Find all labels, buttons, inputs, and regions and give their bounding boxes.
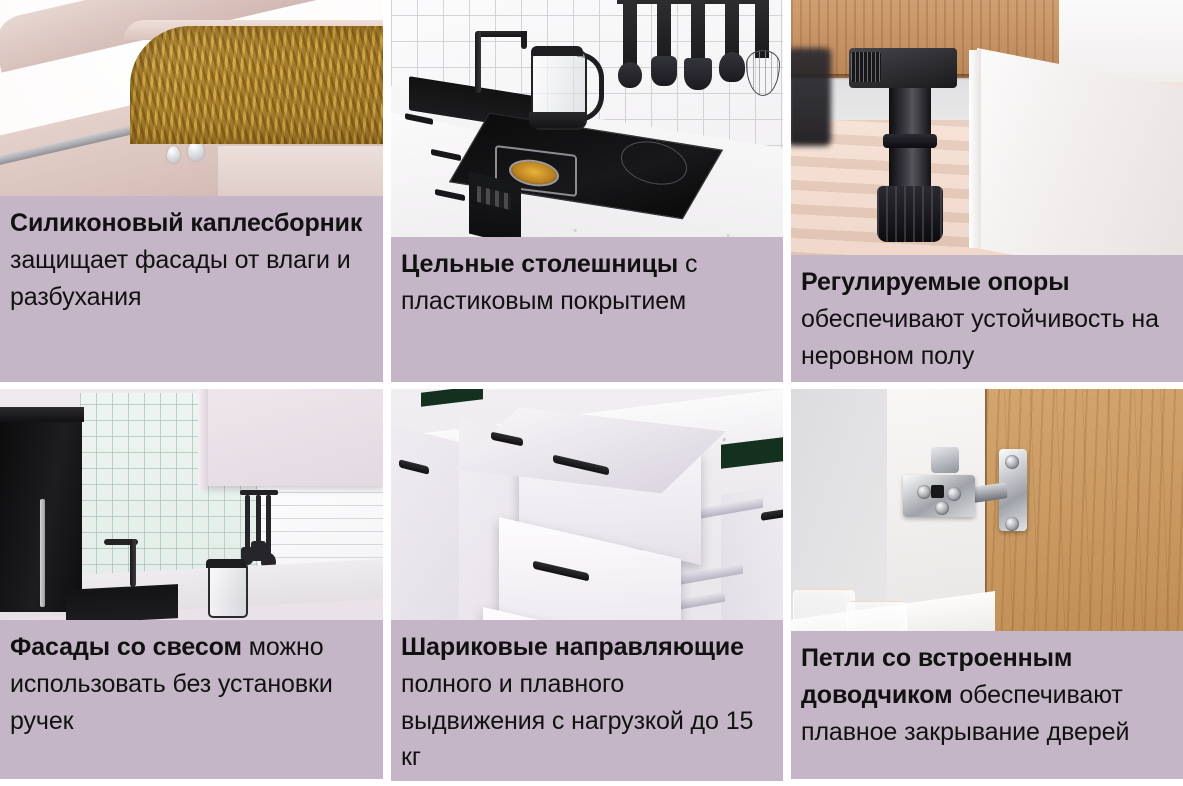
- feature-card-adjustable-legs[interactable]: Регулируемые опоры обеспечивают устойчив…: [791, 0, 1183, 382]
- feature-card-ball-bearing-slides[interactable]: Шариковые направляющие полного и плавног…: [391, 389, 783, 781]
- caption-bold-text: Силиконовый каплесборник: [10, 209, 362, 237]
- caption-bold-text: Регулируемые опоры: [801, 268, 1069, 296]
- caption-overhang-fronts: Фасады со свесом можно использовать без …: [0, 620, 383, 779]
- caption-solid-countertops: Цельные столешницы с пластиковым покрыти…: [391, 237, 783, 382]
- feature-grid: Силиконовый каплесборник защищает фасады…: [0, 0, 1183, 786]
- caption-regular-text: полного и плавного выдвижения с нагрузко…: [401, 670, 753, 772]
- caption-adjustable-legs: Регулируемые опоры обеспечивают устойчив…: [791, 255, 1183, 382]
- caption-ball-bearing-slides: Шариковые направляющие полного и плавног…: [391, 620, 783, 781]
- caption-regular-text: защищает фасады от влаги и разбухания: [10, 246, 351, 311]
- caption-bold-text: Шариковые направляющие: [401, 633, 744, 661]
- feature-card-silicone-drip-catcher[interactable]: Силиконовый каплесборник защищает фасады…: [0, 0, 383, 382]
- caption-silicone-drip-catcher: Силиконовый каплесборник защищает фасады…: [0, 196, 383, 382]
- feature-card-soft-close-hinges[interactable]: Петли со встроенным доводчиком обеспечив…: [791, 389, 1183, 779]
- caption-regular-text: обеспечивают устойчивость на неровном по…: [801, 305, 1159, 370]
- feature-card-solid-countertops[interactable]: Цельные столешницы с пластиковым покрыти…: [391, 0, 783, 382]
- feature-card-overhang-fronts[interactable]: Фасады со свесом можно использовать без …: [0, 389, 383, 779]
- caption-soft-close-hinges: Петли со встроенным доводчиком обеспечив…: [791, 631, 1183, 779]
- caption-bold-text: Фасады со свесом: [10, 633, 242, 661]
- caption-bold-text: Цельные столешницы: [401, 250, 678, 278]
